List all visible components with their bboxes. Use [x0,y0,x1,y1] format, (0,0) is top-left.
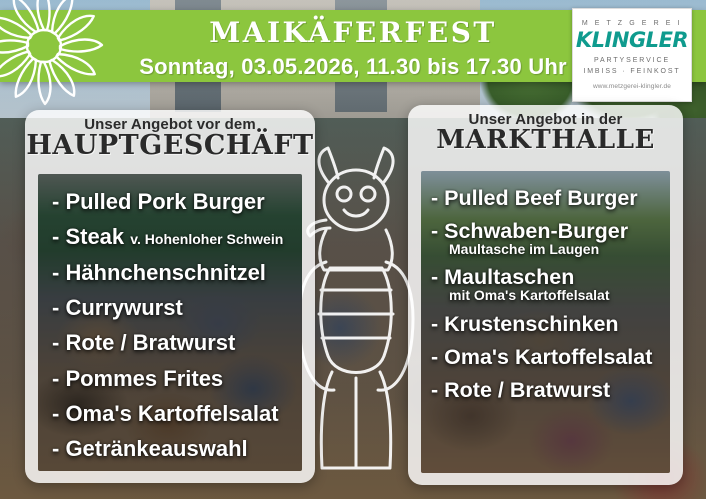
menu-item: - Getränkeauswahl [52,437,302,460]
menu-item-label: - Pulled Beef Burger [431,186,638,210]
menu-item: - Pulled Pork Burger [52,190,302,213]
offer-card-hauptgeschaeft: Unser Angebot vor dem HAUPTGESCHÄFT - Pu… [25,110,315,483]
menu-item-label: - Oma's Kartoffelsalat [431,345,652,369]
menu-item: - Oma's Kartoffelsalat [52,402,302,425]
menu-item-label: - Pulled Pork Burger [52,189,265,214]
menu-item-label: - Steak [52,224,124,249]
menu-item: - Currywurst [52,296,302,319]
offer-card-markthalle: Unser Angebot in der MARKTHALLE - Pulled… [408,105,683,485]
menu-item: - Pulled Beef Burger [431,187,670,210]
menu-item-label: - Hähnchenschnitzel [52,260,266,285]
menu-item-label: - Oma's Kartoffelsalat [52,401,279,426]
menu-item-label: - Maultaschen [431,265,574,289]
card-photo-left: - Pulled Pork Burger - Steak v. Hohenloh… [38,174,302,471]
poster-root: MAIKÄFERFEST Sonntag, 03.05.2026, 11.30 … [0,0,706,499]
menu-list-left: - Pulled Pork Burger - Steak v. Hohenloh… [38,174,302,471]
card-title-left: HAUPTGESCHÄFT [25,132,315,160]
menu-item: - Maultaschen mit Oma's Kartoffelsalat [431,266,670,303]
logo-imbiss-label: IMBISS · FEINKOST [583,67,680,78]
menu-item: - Schwaben-Burger Maultasche im Laugen [431,220,670,257]
menu-item-sublabel: mit Oma's Kartoffelsalat [431,288,670,303]
menu-item-label: - Schwaben-Burger [431,219,628,243]
menu-item-label: - Currywurst [52,295,183,320]
logo-website-url: www.metzgerei-klingler.de [593,83,671,90]
card-photo-right: - Pulled Beef Burger - Schwaben-Burger M… [421,171,670,473]
logo-brand-name: KLINGLER [576,30,688,51]
menu-item: - Pommes Frites [52,367,302,390]
logo-metzgerei-label: M E T Z G E R E I [582,20,682,27]
card-title-right: MARKTHALLE [408,127,683,154]
menu-item-label: - Krustenschinken [431,312,619,336]
menu-item: - Hähnchenschnitzel [52,261,302,284]
menu-item-label: - Pommes Frites [52,366,223,391]
menu-item-label: - Rote / Bratwurst [431,378,610,402]
menu-item: - Krustenschinken [431,313,670,336]
menu-item: - Steak v. Hohenloher Schwein [52,225,302,248]
menu-item-label: - Getränkeauswahl [52,436,248,461]
menu-item-sublabel: Maultasche im Laugen [431,242,670,257]
menu-item: - Rote / Bratwurst [431,379,670,402]
menu-item: - Rote / Bratwurst [52,331,302,354]
menu-item: - Oma's Kartoffelsalat [431,346,670,369]
menu-list-right: - Pulled Beef Burger - Schwaben-Burger M… [421,171,670,473]
menu-item-label: - Rote / Bratwurst [52,330,235,355]
logo-partyservice-label: PARTYSERVICE [594,56,670,67]
company-logo: M E T Z G E R E I KLINGLER PARTYSERVICE … [572,8,692,102]
menu-item-sublabel: v. Hohenloher Schwein [130,231,283,247]
